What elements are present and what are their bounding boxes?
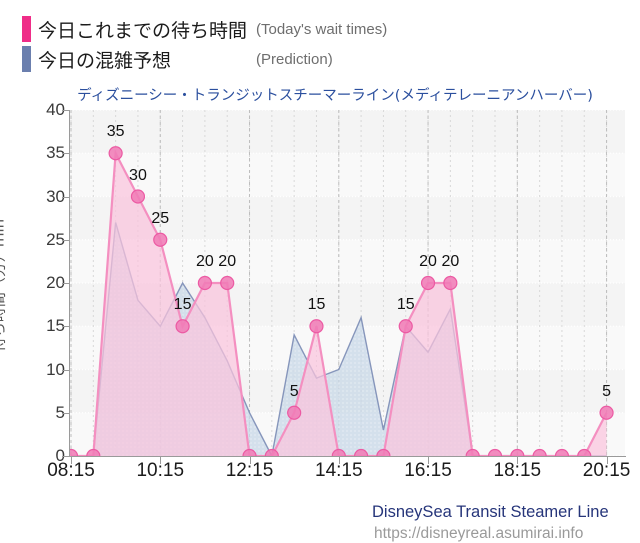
- y-tick-mark: [62, 370, 70, 371]
- y-tick-mark: [62, 240, 70, 241]
- data-point: [154, 233, 167, 246]
- y-tick-mark: [62, 456, 70, 457]
- y-tick-label: 15: [19, 316, 65, 336]
- legend-label-prediction-en: (Prediction): [256, 51, 333, 68]
- x-tick-mark: [517, 456, 518, 464]
- y-tick-label: 20: [19, 273, 65, 293]
- legend-swatch-prediction: [22, 46, 31, 72]
- legend-item-actual: 今日これまでの待ち時間: [22, 15, 247, 43]
- data-point: [288, 406, 301, 419]
- y-tick-label: 5: [19, 403, 65, 423]
- data-point: [198, 277, 211, 290]
- y-tick-label: 35: [19, 143, 65, 163]
- x-axis-line: [69, 456, 626, 457]
- legend-swatch-actual: [22, 16, 31, 42]
- y-tick-label: 40: [19, 100, 65, 120]
- chart-legend: 今日これまでの待ち時間 (Today's wait times) 今日の混雑予想…: [0, 0, 640, 78]
- chart-svg: [70, 110, 625, 456]
- data-point: [444, 277, 457, 290]
- data-point: [399, 320, 412, 333]
- data-point: [221, 277, 234, 290]
- y-tick-label: 25: [19, 230, 65, 250]
- data-point: [109, 147, 122, 160]
- y-tick-mark: [62, 413, 70, 414]
- y-tick-mark: [62, 326, 70, 327]
- plot-inner: [70, 110, 625, 456]
- data-point: [310, 320, 323, 333]
- legend-label-actual-en: (Today's wait times): [256, 21, 387, 38]
- watermark-title: DisneySea Transit Steamer Line: [372, 503, 609, 522]
- x-tick-mark: [71, 456, 72, 464]
- y-tick-mark: [62, 110, 70, 111]
- legend-item-prediction: 今日の混雑予想: [22, 45, 171, 73]
- y-tick-mark: [62, 153, 70, 154]
- plot-background: [70, 110, 625, 456]
- chart-plot-area: 待ち時間（分）min 0510152025303540 08:1510:1512…: [0, 100, 640, 500]
- data-point: [600, 406, 613, 419]
- y-tick-label: 30: [19, 187, 65, 207]
- x-tick-mark: [428, 456, 429, 464]
- data-point: [422, 277, 435, 290]
- x-tick-mark: [607, 456, 608, 464]
- y-tick-label: 10: [19, 360, 65, 380]
- x-tick-mark: [250, 456, 251, 464]
- data-point: [131, 190, 144, 203]
- y-tick-mark: [62, 197, 70, 198]
- legend-label-actual-jp: 今日これまでの待ち時間: [38, 16, 247, 43]
- legend-label-prediction-jp: 今日の混雑予想: [38, 46, 171, 73]
- x-tick-mark: [160, 456, 161, 464]
- y-tick-mark: [62, 283, 70, 284]
- data-point: [176, 320, 189, 333]
- y-axis-title: 待ち時間（分）min: [0, 219, 9, 352]
- x-tick-mark: [339, 456, 340, 464]
- watermark-url: https://disneyreal.asumirai.info: [374, 525, 583, 543]
